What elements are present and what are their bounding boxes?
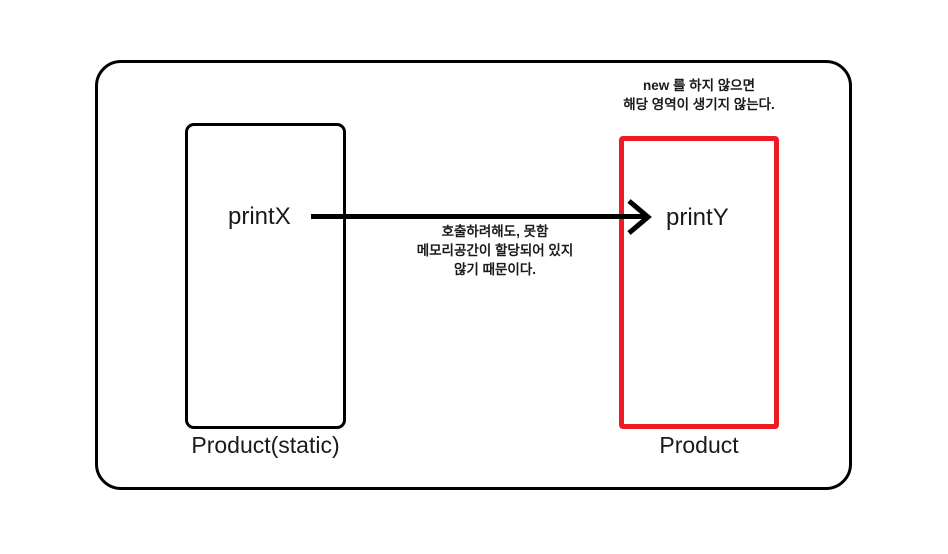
method-label-printy: printY [666,206,729,230]
class-box-static [185,123,346,429]
method-label-printx: printX [228,205,291,229]
class-box-instance [619,136,779,429]
annotation-new-required: new 를 하지 않으면 해당 영역이 생기지 않는다. [580,76,818,114]
annotation-call-fails: 호출하려해도, 못함 메모리공간이 할당되어 있지 않기 때문이다. [374,222,616,279]
diagram-canvas: printX printY Product(static) Product ne… [0,0,948,554]
caption-product: Product [619,434,779,457]
caption-product-static: Product(static) [185,434,346,457]
